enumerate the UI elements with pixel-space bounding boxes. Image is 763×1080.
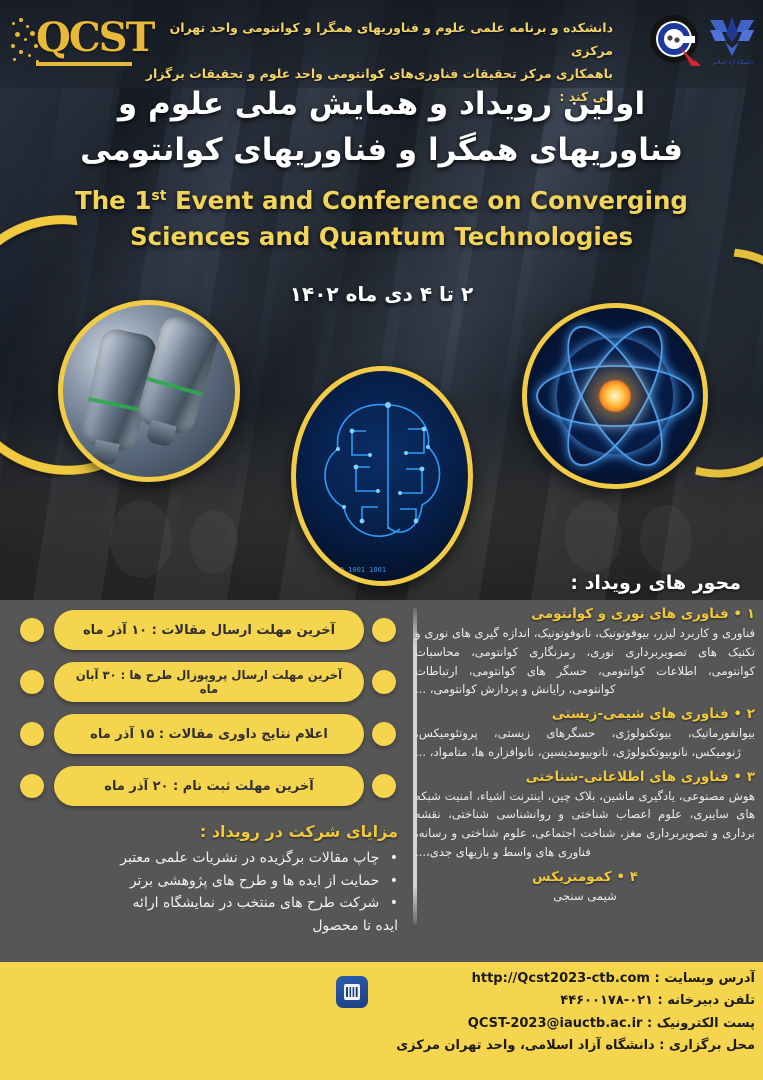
header-line-1: دانشکده و برنامه علمی علوم و فناوریهای ه… (133, 16, 613, 62)
lens-green-ring (88, 397, 144, 413)
benefit-continuation: ایده تا محصول (18, 915, 398, 938)
benefit-item: • حمایت از ایده ها و طرح های پژوهشی برتر (18, 870, 398, 893)
benefit-item: • چاپ مقالات برگزیده در نشریات علمی معتب… (18, 847, 398, 870)
pill-dot-left (20, 670, 44, 694)
atom-circle-image (522, 303, 708, 489)
deadline-row: آخرین مهلت ارسال پروپوزال طرح ها : ۳۰ آب… (18, 660, 398, 708)
lens-green-ring (146, 377, 203, 397)
atom-nucleus (598, 379, 632, 413)
qcst-logo: QCST (10, 12, 140, 74)
topic-body: فناوری و کاربرد لیزر، بیوفوتونیک، نانوفو… (415, 624, 755, 699)
topic-body: هوش مصنوعی، یادگیری ماشین، بلاک چین، این… (415, 787, 755, 862)
page-title-persian: اولین رویداد و همایش ملی علوم و فناوریها… (0, 82, 763, 174)
topic-item: ۱ • فناوری های نوری و کوانتومی فناوری و … (415, 606, 755, 699)
azad-caption: دانشگاه آزاد اسلامی (707, 60, 757, 66)
benefits-heading: مزایای شرکت در رویداد : (18, 822, 398, 841)
microscope-circle-image (58, 300, 240, 482)
deadline-pill: آخرین مهلت ارسال پروپوزال طرح ها : ۳۰ آب… (54, 662, 364, 702)
deadline-row: آخرین مهلت ثبت نام : ۲۰ آذر ماه (18, 764, 398, 812)
footer-phone-value: ۰۲۱-۴۴۶۰۰۱۷۸ (560, 993, 653, 1008)
topics-list: ۱ • فناوری های نوری و کوانتومی فناوری و … (415, 606, 755, 913)
lens-tip (146, 420, 177, 448)
benefits-section: مزایای شرکت در رویداد : • چاپ مقالات برگ… (18, 822, 398, 938)
footer-venue-row: محل برگزاری : دانشگاه آزاد اسلامی، واحد … (335, 1035, 755, 1057)
benefit-item: • شرکت طرح های منتخب در نمایشگاه ارائه (18, 892, 398, 915)
pill-dot-left (20, 722, 44, 746)
bullet-icon: • (390, 873, 398, 889)
qcst-circular-logo-icon (649, 14, 703, 68)
footer-phone-label: تلفن دبیرخانه : (658, 993, 755, 1008)
footer-bar: آدرس وبسایت : http://Qcst2023-ctb.com تل… (0, 962, 763, 1080)
title-en-line-1: The 1st Event and Conference on Convergi… (0, 183, 763, 219)
title-en-ordinal: st (151, 188, 166, 204)
footer-venue-label: محل برگزاری : (659, 1038, 755, 1053)
event-date: ۲ تا ۴ دی ماه ۱۴۰۲ (0, 282, 763, 306)
conference-poster: QCST دانشکده و برنامه علمی علوم و فناوری… (0, 0, 763, 1080)
pill-dot-left (20, 618, 44, 642)
content-area: محور های رویداد : ۱ • فناوری های نوری و … (0, 560, 763, 960)
title-en-prefix: The 1 (75, 186, 151, 215)
benefit-text: حمایت از ایده ها و طرح های پژوهشی برتر (130, 873, 379, 889)
qcst-underline (36, 62, 132, 66)
qcst-circular-logo (649, 14, 703, 68)
topic-title: ۳ • فناوری های اطلاعاتی-شناختی (415, 769, 755, 785)
bullet-icon: • (390, 895, 398, 911)
azad-wings-icon (707, 12, 757, 58)
pill-dot-right (372, 722, 396, 746)
azad-university-logo: دانشگاه آزاد اسلامی (707, 12, 757, 74)
pill-dot-right (372, 618, 396, 642)
topic-title: ۲ • فناوری های شیمی-زیستی (415, 706, 755, 722)
pill-dot-right (372, 670, 396, 694)
footer-email-value[interactable]: QCST-2023@iauctb.ac.ir (468, 1016, 643, 1031)
footer-phone-row: تلفن دبیرخانه : ۰۲۱-۴۴۶۰۰۱۷۸ (335, 990, 755, 1012)
deadline-row: اعلام نتایج داوری مقالات : ۱۵ آذر ماه (18, 712, 398, 760)
bullet-icon: • (390, 850, 398, 866)
topic-body: شیمی سنجی (415, 887, 755, 906)
footer-website-label: آدرس وبسایت : (654, 971, 755, 986)
footer-email-row: پست الکترونیک : QCST-2023@iauctb.ac.ir (335, 1013, 755, 1035)
footer-contact-info: آدرس وبسایت : http://Qcst2023-ctb.com تل… (335, 968, 755, 1057)
lens-tip (91, 439, 120, 466)
benefit-text: شرکت طرح های منتخب در نمایشگاه ارائه (133, 895, 380, 911)
microscope-illustration (63, 305, 235, 477)
footer-website-value[interactable]: http://Qcst2023-ctb.com (472, 971, 650, 986)
digital-brain-icon (296, 371, 468, 581)
topic-item: ۳ • فناوری های اطلاعاتی-شناختی هوش مصنوع… (415, 769, 755, 862)
pill-dot-left (20, 774, 44, 798)
deadline-pill: آخرین مهلت ثبت نام : ۲۰ آذر ماه (54, 766, 364, 806)
title-en-line-2: Sciences and Quantum Technologies (0, 219, 763, 255)
topic-title: ۴ • کمومتریکس (415, 869, 755, 885)
topic-title: ۱ • فناوری های نوری و کوانتومی (415, 606, 755, 622)
pill-dot-right (372, 774, 396, 798)
deadlines-list: آخرین مهلت ارسال مقالات : ۱۰ آذر ماه آخر… (18, 608, 398, 816)
topic-item: ۴ • کمومتریکس شیمی سنجی (415, 869, 755, 906)
microscope-objective-b (135, 313, 222, 437)
footer-website-row: آدرس وبسایت : http://Qcst2023-ctb.com (335, 968, 755, 990)
topic-body: بیوانفورماتیک، بیوتکنولوژی، حسگرهای زیست… (415, 724, 755, 762)
footer-email-label: پست الکترونیک : (647, 1016, 755, 1031)
deadline-pill: آخرین مهلت ارسال مقالات : ۱۰ آذر ماه (54, 610, 364, 650)
page-title-english: The 1st Event and Conference on Convergi… (0, 183, 763, 254)
title-fa-line-1: اولین رویداد و همایش ملی علوم و (60, 82, 703, 128)
digital-brain-circle-image: 0110 0100 1001 1001 (291, 366, 473, 586)
title-en-rest: Event and Conference on Converging (175, 186, 688, 215)
footer-venue-value: دانشگاه آزاد اسلامی، واحد تهران مرکزی (396, 1038, 655, 1053)
deadline-pill: اعلام نتایج داوری مقالات : ۱۵ آذر ماه (54, 714, 364, 754)
title-fa-line-2: فناوریهای همگرا و فناوریهای کوانتومی (60, 128, 703, 174)
deadline-row: آخرین مهلت ارسال مقالات : ۱۰ آذر ماه (18, 608, 398, 656)
benefit-text: چاپ مقالات برگزیده در نشریات علمی معتبر (120, 850, 379, 866)
topics-heading: محور های رویداد : (570, 572, 741, 594)
topic-item: ۲ • فناوری های شیمی-زیستی بیوانفورماتیک،… (415, 706, 755, 762)
